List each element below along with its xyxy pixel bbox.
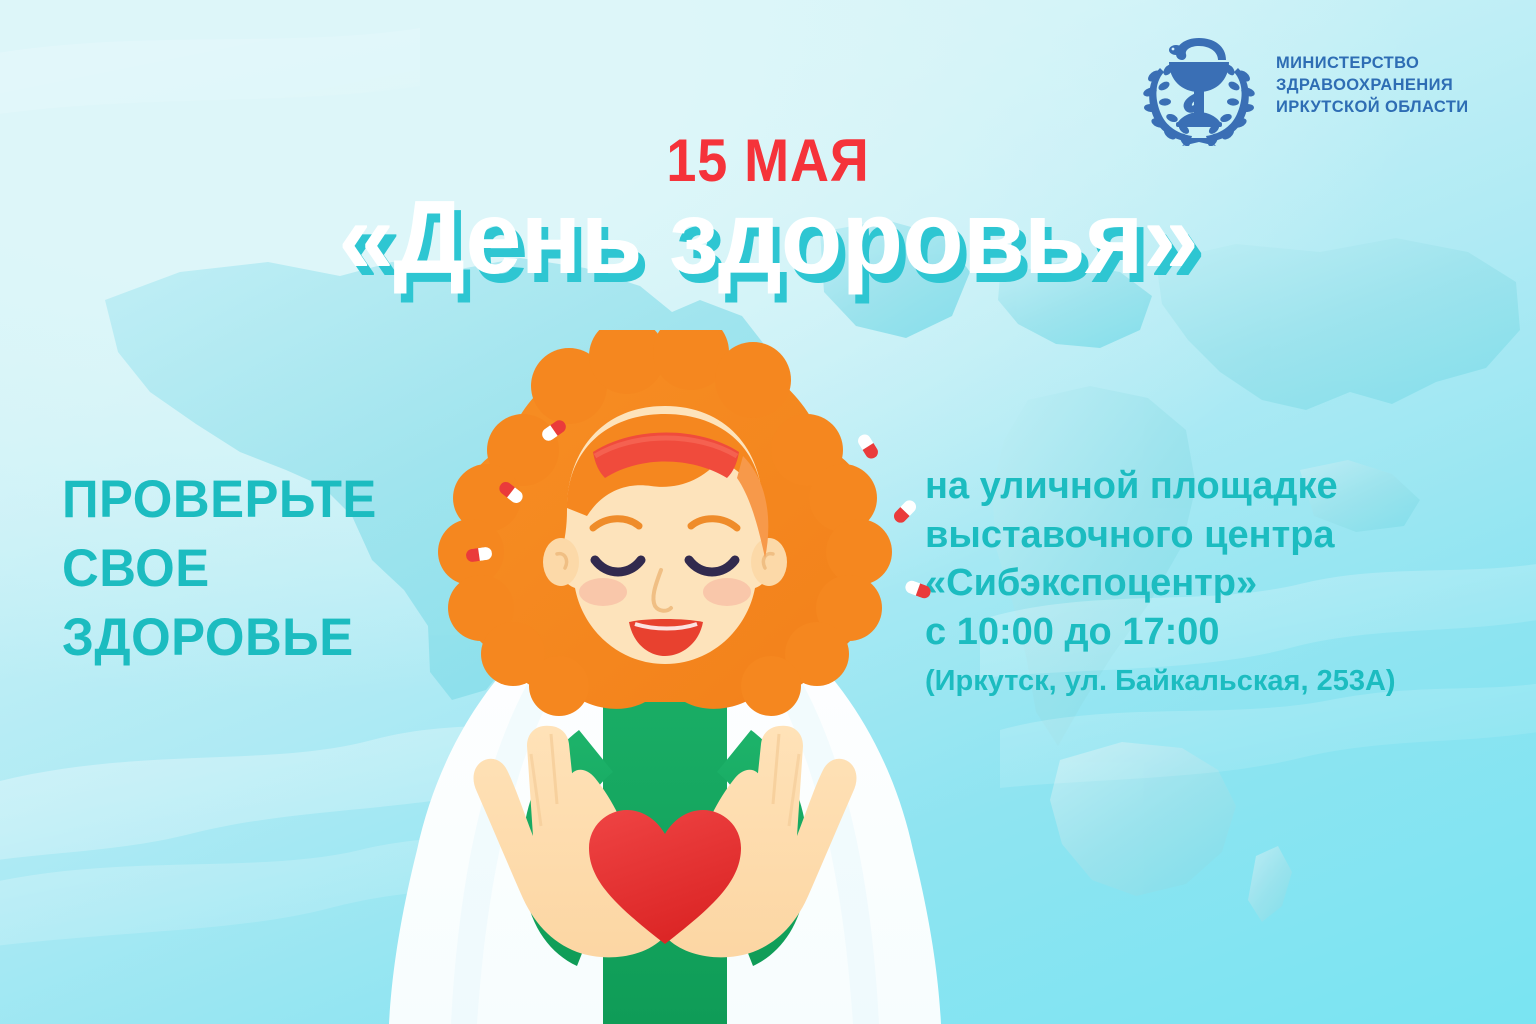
health-day-poster: МИНИСТЕРСТВО ЗДРАВООХРАНЕНИЯ ИРКУТСКОЙ О… xyxy=(0,0,1536,1024)
venue-hours: с 10:00 до 17:00 xyxy=(925,608,1505,657)
venue-address: (Иркутск, ул. Байкальская, 253А) xyxy=(925,663,1505,701)
ministry-line-1: МИНИСТЕРСТВО xyxy=(1276,53,1469,75)
doctor-illustration xyxy=(355,330,975,1024)
page-title: «День здоровья» xyxy=(23,186,1513,290)
ministry-line-3: ИРКУТСКОЙ ОБЛАСТИ xyxy=(1276,97,1469,119)
ministry-line-2: ЗДРАВООХРАНЕНИЯ xyxy=(1276,75,1469,97)
ministry-name: МИНИСТЕРСТВО ЗДРАВООХРАНЕНИЯ ИРКУТСКОЙ О… xyxy=(1276,53,1469,118)
venue-line-2: выставочного центра xyxy=(925,511,1505,560)
venue-line-3: «Сибэкспоцентр» xyxy=(925,559,1505,608)
venue-line-1: на уличной площадке xyxy=(925,462,1505,511)
venue-info: на уличной площадке выставочного центра … xyxy=(925,462,1505,700)
